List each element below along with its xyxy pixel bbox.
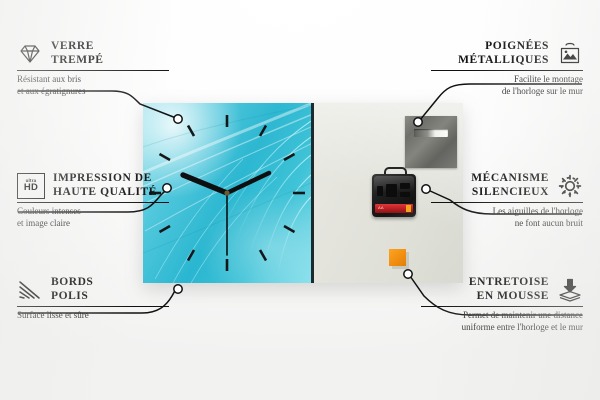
battery: AA [375, 204, 413, 213]
bracket-keyhole-slot [414, 129, 448, 137]
metal-bracket [405, 116, 457, 168]
callout-divider [17, 202, 169, 203]
callout-entretoise-en-mousse: ENTRETOISE EN MOUSSE Permet de maintenir… [421, 276, 583, 333]
callout-subtitle: Couleurs intenses et image claire [17, 206, 169, 229]
callout-subtitle: Les aiguilles de l'horloge ne font aucun… [431, 206, 583, 229]
wall-hanging-icon [557, 41, 583, 67]
callout-title: IMPRESSION DE HAUTE QUALITÉ [53, 172, 157, 199]
mechanism-detail [400, 183, 410, 189]
diamond-icon [17, 41, 43, 67]
callout-subtitle: Résistant aux bris et aux égratignures [17, 74, 169, 97]
callout-divider [421, 306, 583, 307]
product-image: AA [143, 103, 463, 283]
gear-icon [557, 173, 583, 199]
mechanism-detail [386, 184, 397, 197]
callout-verre-trempe: VERRE TREMPÉ Résistant aux bris et aux é… [17, 40, 169, 97]
ultra-hd-icon: ultra HD [17, 173, 45, 199]
leader-dot-bords-polis [174, 285, 182, 293]
clock-mechanism: AA [372, 174, 416, 217]
press-down-icon [557, 277, 583, 303]
mechanism-detail [400, 192, 410, 197]
callout-title: ENTRETOISE EN MOUSSE [469, 276, 549, 303]
callout-bords-polis: BORDS POLIS Surface lisse et sûre [17, 276, 169, 322]
callout-subtitle: Permet de maintenir une distance uniform… [421, 310, 583, 333]
callout-header: ultra HD IMPRESSION DE HAUTE QUALITÉ [17, 172, 169, 199]
callout-subtitle: Surface lisse et sûre [17, 310, 169, 322]
polished-edge-icon [17, 277, 43, 303]
callout-title: MÉCANISME SILENCIEUX [471, 172, 549, 199]
callout-header: BORDS POLIS [17, 276, 169, 303]
callout-divider [17, 70, 169, 71]
callout-title: BORDS POLIS [51, 276, 93, 303]
callout-header: MÉCANISME SILENCIEUX [431, 172, 583, 199]
callout-header: VERRE TREMPÉ [17, 40, 169, 67]
mechanism-detail [377, 186, 383, 196]
foam-spacer [389, 249, 406, 266]
callout-title: VERRE TREMPÉ [51, 40, 104, 67]
callout-header: POIGNÉES MÉTALLIQUES [431, 40, 583, 67]
callout-divider [431, 70, 583, 71]
battery-label: AA [378, 205, 384, 210]
callout-divider [17, 306, 169, 307]
callout-impression-haute-qualite: ultra HD IMPRESSION DE HAUTE QUALITÉ Cou… [17, 172, 169, 229]
infographic-canvas: AA [0, 0, 600, 400]
callout-header: ENTRETOISE EN MOUSSE [421, 276, 583, 303]
callout-divider [431, 202, 583, 203]
callout-poignees-metalliques: POIGNÉES MÉTALLIQUES Facilite le montage… [431, 40, 583, 97]
callout-mecanisme-silencieux: MÉCANISME SILENCIEUX Les aiguilles de l'… [431, 172, 583, 229]
callout-title: POIGNÉES MÉTALLIQUES [458, 40, 549, 67]
callout-subtitle: Facilite le montage de l'horloge sur le … [431, 74, 583, 97]
